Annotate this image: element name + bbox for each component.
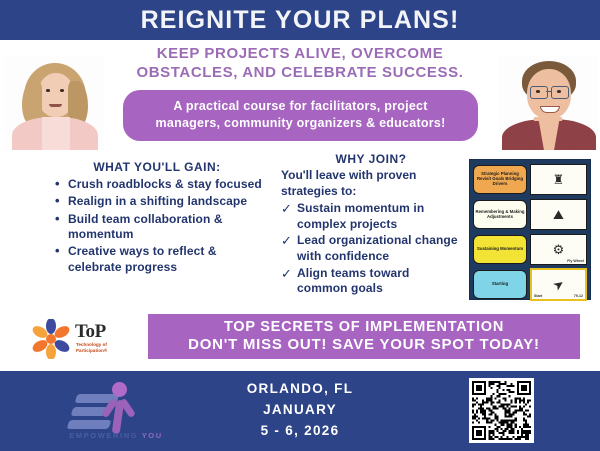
fly-wheel-icon: ⚙ Fly Wheel (530, 234, 587, 265)
why-join-list: Sustain momentum in complex projects Lea… (281, 201, 461, 297)
flipchart-caption: Fly Wheel (567, 259, 584, 263)
hill-path-glyph: ⛰ (531, 200, 586, 229)
page-title: REIGNITE YOUR PLANS! (141, 8, 460, 33)
why-join-lead: You'll leave with proven strategies to: (281, 168, 461, 199)
subtitle: KEEP PROJECTS ALIVE, OVERCOME OBSTACLES,… (105, 44, 495, 82)
why-join-heading: WHY JOIN? (281, 152, 461, 166)
flipchart-card: Sustaining Momentum (473, 235, 527, 264)
list-item: Lead organizational change with confiden… (281, 233, 461, 264)
header-band: REIGNITE YOUR PLANS! (0, 0, 600, 40)
list-item: Creative ways to reflect & celebrate pro… (52, 244, 262, 275)
top-wordmark: ToP (75, 321, 106, 343)
flyer-root: REIGNITE YOUR PLANS! KEEP PROJECTS ALIVE… (0, 0, 600, 451)
cta-banner[interactable]: TOP SECRETS OF IMPLEMENTATION DON'T MISS… (148, 314, 580, 359)
flower-icon (30, 319, 72, 359)
top-tagline: Technology of Participation® (76, 342, 138, 355)
list-item: Sustain momentum in complex projects (281, 201, 461, 232)
benefits-list: Crush roadblocks & stay focused Realign … (52, 177, 262, 275)
brand-name: EMPOWERING (69, 431, 141, 440)
venue-city: ORLANDO, FL (205, 379, 395, 400)
flipchart-caption: 79-12 (574, 294, 583, 298)
benefits-column: WHAT YOU'LL GAIN: Crush roadblocks & sta… (52, 160, 262, 277)
brand-accent: YOU (142, 431, 163, 440)
course-audience-pill: A practical course for facilitators, pro… (123, 90, 478, 141)
cta-line-1: TOP SECRETS OF IMPLEMENTATION (224, 318, 504, 336)
list-item: Realign in a shifting landscape (52, 194, 262, 209)
empowering-you-logo: EMPOWERING YOU (62, 378, 170, 442)
flipchart-row: Sustaining Momentum ⚙ Fly Wheel (473, 234, 587, 265)
flipchart-card: Strategic Planning Revisit Goals Bridgin… (473, 165, 527, 194)
why-join-column: WHY JOIN? You'll leave with proven strat… (281, 152, 461, 298)
trophy-glyph: ♜ (531, 165, 586, 194)
pill-line-1: A practical course for facilitators, pro… (137, 98, 464, 115)
event-venue: ORLANDO, FL JANUARY 5 - 6, 2026 (205, 379, 395, 442)
list-item: Build team collaboration & momentum (52, 212, 262, 243)
registration-qr-code[interactable] (469, 378, 534, 443)
flipchart-row: Starting ➤ Start 79-12 (473, 269, 587, 300)
presenter-photo-right (498, 55, 598, 150)
benefits-heading: WHAT YOU'LL GAIN: (52, 160, 262, 174)
list-item: Crush roadblocks & stay focused (52, 177, 262, 192)
trophy-icon: ♜ (530, 164, 587, 195)
hill-path-icon: ⛰ (530, 199, 587, 230)
flipchart-row: Remembering & Making Adjustments ⛰ (473, 199, 587, 230)
rocket-icon: ➤ Start 79-12 (530, 268, 587, 301)
venue-month: JANUARY (205, 400, 395, 421)
workshop-flipchart-photo: Strategic Planning Revisit Goals Bridgin… (469, 159, 591, 300)
flipchart-card: Starting (473, 270, 527, 299)
pill-line-2: managers, community organizers & educato… (137, 115, 464, 132)
venue-dates: 5 - 6, 2026 (205, 421, 395, 442)
flipchart-caption-left: Start (534, 294, 542, 298)
empowering-you-text: EMPOWERING YOU (62, 431, 170, 440)
top-logo: ToP Technology of Participation® (30, 315, 140, 361)
list-item: Align teams toward common goals (281, 266, 461, 297)
cta-line-2: DON'T MISS OUT! SAVE YOUR SPOT TODAY! (188, 336, 540, 355)
presenter-photo-left (4, 55, 104, 150)
flipchart-card: Remembering & Making Adjustments (473, 200, 527, 229)
flipchart-row: Strategic Planning Revisit Goals Bridgin… (473, 164, 587, 195)
subtitle-line-1: KEEP PROJECTS ALIVE, OVERCOME (105, 44, 495, 63)
subtitle-line-2: OBSTACLES, AND CELEBRATE SUCCESS. (105, 63, 495, 82)
